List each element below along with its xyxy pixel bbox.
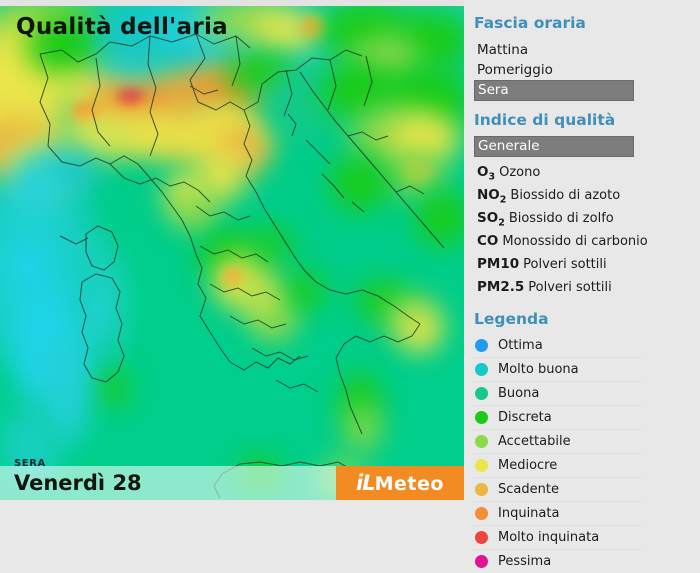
legend-item-ottima[interactable]: Ottima [474,334,641,358]
fascia-oraria-heading: Fascia oraria [474,14,586,32]
indice-symbol-pm25: PM2.5 [477,279,524,295]
indice-qualita-heading: Indice di qualità [474,111,615,129]
legend-color-dot-ottima [475,339,488,352]
indice-option-pm25[interactable]: PM2.5Polveri sottili [474,276,648,299]
legend-color-dot-mediocre [475,459,488,472]
legend-item-pessima[interactable]: Pessima [474,550,641,573]
indice-option-o3[interactable]: O3Ozono [474,161,648,184]
indice-qualita-options: Generale O3Ozono NO2Biossido di azoto SO… [474,136,648,299]
indice-option-so2[interactable]: SO2Biossido di zolfo [474,207,648,230]
ilmeteo-logo[interactable]: iLMeteo [336,466,464,500]
indice-option-co[interactable]: COMonossido di carbonio [474,230,648,253]
legend-item-molto-inquinata[interactable]: Molto inquinata [474,526,641,550]
legend-color-dot-inquinata [475,507,488,520]
indice-desc-pm25: Polveri sottili [528,280,611,295]
indice-symbol-so2: SO2 [477,210,505,226]
fascia-option-sera[interactable]: Sera [474,80,634,101]
legend-color-dot-discreta [475,411,488,424]
indice-sub-o3: 3 [488,172,495,183]
fascia-option-pomeriggio[interactable]: Pomeriggio [474,60,637,80]
indice-desc-pm10: Polveri sottili [523,257,606,272]
logo-meteo-text: Meteo [375,473,444,495]
legend-color-dot-pessima [475,555,488,568]
indice-desc-co: Monossido di carbonio [502,234,647,249]
legend-item-mediocre[interactable]: Mediocre [474,454,641,478]
legend-label-ottima: Ottima [498,338,543,353]
indice-symbol-pm10: PM10 [477,256,519,272]
map-date-band: Venerdì 28 iLMeteo [0,466,464,500]
legend-label-scadente: Scadente [498,482,559,497]
indice-sub-no2: 2 [500,195,507,206]
map-canvas: Qualità dell'aria SERA [0,6,464,500]
air-quality-map[interactable]: Qualità dell'aria SERA Venerdì 28 iLMete… [0,0,464,500]
page-root: Qualità dell'aria SERA Venerdì 28 iLMete… [0,0,700,559]
map-pollution-field [0,6,464,500]
legend-item-scadente[interactable]: Scadente [474,478,641,502]
indice-option-generale[interactable]: Generale [474,136,634,157]
legend-color-dot-molto-inquinata [475,531,488,544]
indice-sub-so2: 2 [498,218,505,229]
indice-symbol-co: CO [477,233,498,249]
legend-item-accettabile[interactable]: Accettabile [474,430,641,454]
indice-option-no2[interactable]: NO2Biossido di azoto [474,184,648,207]
legend-label-pessima: Pessima [498,554,551,569]
legend-item-discreta[interactable]: Discreta [474,406,641,430]
legenda-list: Ottima Molto buona Buona Discreta Accett… [474,334,641,573]
sidebar: Fascia oraria Mattina Pomeriggio Sera In… [474,0,700,559]
legend-color-dot-accettabile [475,435,488,448]
indice-symbol-no2: NO2 [477,187,506,203]
legend-item-inquinata[interactable]: Inquinata [474,502,641,526]
legend-label-accettabile: Accettabile [498,434,571,449]
legend-label-molto-buona: Molto buona [498,362,579,377]
fascia-oraria-options: Mattina Pomeriggio Sera [474,40,637,101]
indice-symbol-o3: O3 [477,164,495,180]
legend-item-buona[interactable]: Buona [474,382,641,406]
ilmeteo-logo-text: iLMeteo [356,471,444,495]
map-date-label: Venerdì 28 [14,471,142,495]
legend-label-molto-inquinata: Molto inquinata [498,530,599,545]
indice-option-pm10[interactable]: PM10Polveri sottili [474,253,648,276]
legend-color-dot-scadente [475,483,488,496]
logo-il-text: iL [356,471,375,495]
indice-desc-o3: Ozono [499,165,540,180]
legend-color-dot-buona [475,387,488,400]
legenda-heading: Legenda [474,310,549,328]
legend-label-mediocre: Mediocre [498,458,557,473]
fascia-option-mattina[interactable]: Mattina [474,40,637,60]
indice-desc-so2: Biossido di zolfo [509,211,614,226]
page-title: Qualità dell'aria [16,14,228,40]
indice-desc-no2: Biossido di azoto [510,188,620,203]
legend-label-buona: Buona [498,386,539,401]
legend-label-inquinata: Inquinata [498,506,559,521]
legend-color-dot-molto-buona [475,363,488,376]
legend-item-molto-buona[interactable]: Molto buona [474,358,641,382]
map-top-border [0,0,464,6]
legend-label-discreta: Discreta [498,410,552,425]
